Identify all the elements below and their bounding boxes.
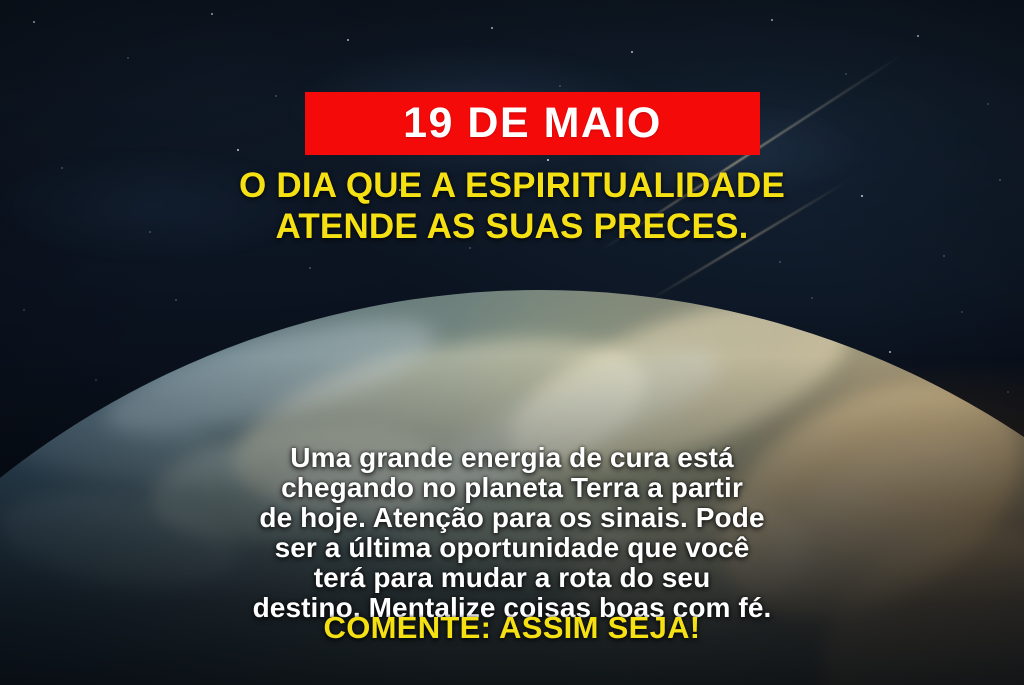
body-copy: Uma grande energia de cura está chegando… xyxy=(0,443,1024,624)
date-banner-label: 19 DE MAIO xyxy=(403,102,662,145)
date-banner: 19 DE MAIO xyxy=(305,92,760,155)
call-to-action-label: COMENTE: ASSIM SEJA! xyxy=(324,610,701,645)
call-to-action: COMENTE: ASSIM SEJA! xyxy=(0,612,1024,643)
body-line-2: chegando no planeta Terra a partir xyxy=(0,473,1024,503)
headline-line-2: ATENDE AS SUAS PRECES. xyxy=(0,207,1024,248)
headline-line-1: O DIA QUE A ESPIRITUALIDADE xyxy=(0,166,1024,207)
headline: O DIA QUE A ESPIRITUALIDADE ATENDE AS SU… xyxy=(0,166,1024,248)
poster-content: 19 DE MAIO O DIA QUE A ESPIRITUALIDADE A… xyxy=(0,0,1024,685)
body-line-1: Uma grande energia de cura está xyxy=(0,443,1024,473)
poster-image: 19 DE MAIO O DIA QUE A ESPIRITUALIDADE A… xyxy=(0,0,1024,685)
body-line-4: ser a última oportunidade que você xyxy=(0,533,1024,563)
body-line-3: de hoje. Atenção para os sinais. Pode xyxy=(0,503,1024,533)
body-line-5: terá para mudar a rota do seu xyxy=(0,563,1024,593)
